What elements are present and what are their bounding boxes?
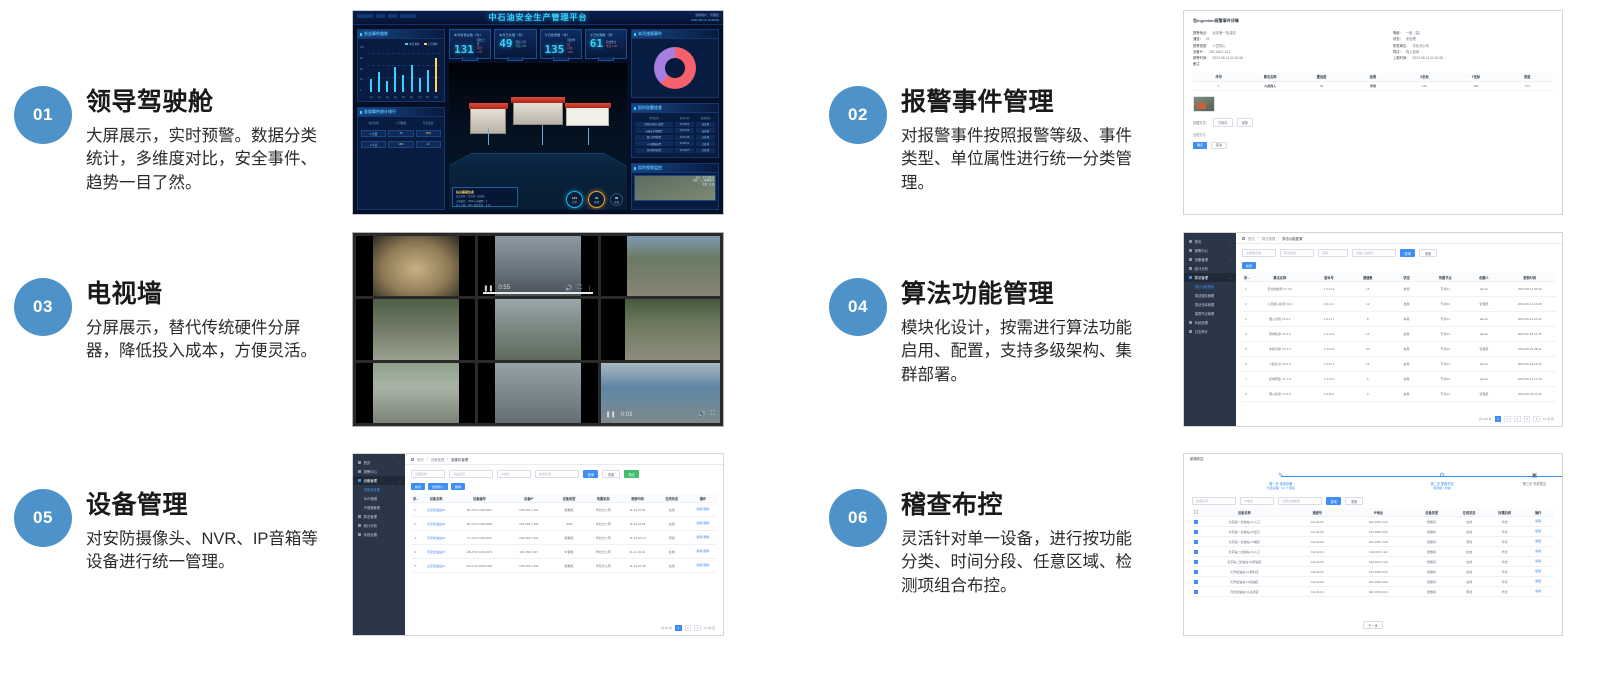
video-tile-3[interactable] [601, 236, 720, 296]
page-size-select[interactable]: 10 条/页 [1543, 417, 1554, 421]
feature-text-02: 报警事件管理 对报警事件按照报警等级、事件类型、单位属性进行统一分类管理。 [901, 86, 1133, 195]
chevron-down-icon: ⌄ [398, 479, 401, 483]
action-bar: 新增 批量导入 删除 [405, 483, 723, 494]
bullet-icon [358, 533, 361, 536]
table-row[interactable]: 4 河北加油站07 HB-JYZ-CAM-0073 192.168.3.117 … [411, 545, 717, 559]
feature-block-04: 04 算法功能管理 模块化设计，按需进行算法功能启用、配置，支持多级架构、集群部… [829, 278, 1137, 387]
panel-title-violation: 本月违规事件 [632, 30, 718, 39]
feature-badge-03: 03 [14, 278, 72, 336]
volume-icon[interactable]: 🔊 [565, 285, 572, 292]
table-row[interactable]: 6 人脸比对 V2.2.3 2.2.3-r1 14 启用 节点01 admin … [1242, 357, 1556, 372]
check-square-icon: ▣ [1532, 473, 1538, 479]
sidebar-item-device[interactable]: 设备管理⌄ [353, 476, 405, 485]
page-button[interactable]: 2 [685, 625, 692, 631]
scene-dials[interactable]: 131 告警 49 处理 98 在线 [566, 191, 623, 208]
sidebar-item-home[interactable]: 首页⌄ [1184, 237, 1236, 246]
legend-item-2: 上月事件 [424, 42, 438, 46]
table-header-row: 序号 算法名称 版本号 通道数 状态 所属节点 创建人 更新时间 [1242, 273, 1556, 282]
table-row[interactable]: 北京第二加油站-02卸油区 CH-02-02 192.168.1.112 摄像机… [1192, 557, 1554, 567]
breadcrumb: 首页/ 算法管理/ 算法功能配置 [1236, 233, 1562, 244]
slide-canvas: 01 领导驾驶舱 大屏展示，实时预警。数据分类统计，多维度对比，安全事件、趋势一… [0, 0, 1622, 673]
feature-text-01: 领导驾驶舱 大屏展示，实时预警。数据分类统计，多维度对比，安全事件、趋势一目了然… [86, 86, 318, 195]
panel-title-realtime-alarm: 实时告警信息 [632, 104, 718, 113]
feature-title-06: 稽查布控 [901, 491, 1137, 519]
feature-block-06: 06 稽查布控 灵活针对单一设备，进行按功能分类、时间分段、任意区域、检测项组合… [829, 489, 1137, 598]
table-row: 离岗睡岗报警 12:44:07 已处理 [635, 148, 715, 153]
scene-3d-station[interactable]: 站点基础信息 站点名称：北京第一加油站 占地面积：3600㎡ 油罐数：6 员工人… [449, 63, 627, 210]
feature-title-05: 设备管理 [86, 491, 322, 519]
dial-handled[interactable]: 49 处理 [588, 191, 605, 208]
feature-block-03: 03 电视墙 分屏展示，替代传统硬件分屏器，降低投入成本，方便灵活。 [14, 278, 318, 364]
page-button[interactable]: 4 [1524, 416, 1531, 422]
camera-feed [373, 299, 459, 359]
feature-number-02: 02 [848, 105, 868, 125]
chevron-down-icon: ⌄ [1270, 251, 1273, 255]
table-header-row: 序号 设备名称 设备编号 设备IP 设备类型 所属机构 更新时间 在线状态 操作 [411, 494, 717, 503]
sidebar-item-home[interactable]: 首页⌄ [353, 458, 405, 467]
confirm-button[interactable]: 确定 [1193, 142, 1207, 149]
tag-verified[interactable]: 已核实 [1213, 118, 1233, 127]
volume-icon[interactable]: 🔊 [698, 411, 705, 418]
table-header-row: 事件名称 发生时间 处理状态 [635, 115, 715, 120]
table-row[interactable]: 北京第二加油站-01入口 CH-02-01 192.168.1.111 摄像机 … [1192, 547, 1554, 557]
filter-online-status-select[interactable]: 在线状态⌄ [535, 470, 579, 478]
camera-feed [373, 363, 459, 423]
table-row: 未戴安全帽报警 13:21:45 未处理 [635, 128, 715, 133]
page-button[interactable]: 2 [1504, 416, 1511, 422]
device-table: 序号 设备名称 设备编号 设备IP 设备类型 所属机构 更新时间 在线状态 操作… [405, 494, 723, 621]
filter-bar: 全部服务器⌄ 算法类型⌄ 名称 请输入关键字 查询 重置 [1236, 244, 1562, 262]
video-tile-7[interactable] [356, 363, 475, 423]
main-area: 首页/ 设备管理/ 摄像机管理 全部机构⌄ 设备名称 IP地址 在线状态⌄ 查询… [405, 454, 723, 635]
camera-feed [373, 236, 459, 296]
dashboard-nav-left[interactable] [357, 14, 416, 18]
feature-desc-06: 灵活针对单一设备，进行按功能分类、时间分段、任意区域、检测项组合布控。 [901, 528, 1137, 598]
feature-number-03: 03 [33, 297, 53, 317]
video-tile-8[interactable] [478, 363, 597, 423]
panel-title-event-rank: 各类事件统计排行 [358, 108, 444, 117]
tag-false-alarm[interactable]: 误报 [1237, 118, 1253, 127]
legend-item-1: 本月事件 [405, 42, 419, 46]
filter-device-name-input[interactable]: 设备名称 [1192, 497, 1236, 505]
step-2-configure[interactable]: ⚙ 第二步 配置布控 检测项 / 时段 [1361, 473, 1522, 490]
feature-number-05: 05 [33, 508, 53, 528]
device-app: 首页⌄ 报警中心 设备管理⌄ 摄像机管理 NVR管理 IP音箱管理 算法管理 统… [353, 454, 723, 635]
field-row: 上报时间：2023-06-12 11:31:48 [1393, 55, 1553, 61]
video-tile-5[interactable] [478, 299, 597, 359]
row-checkbox[interactable] [1192, 560, 1199, 564]
page-button[interactable]: 1 [675, 625, 682, 631]
add-button[interactable]: 新增 [1242, 262, 1256, 269]
cancel-button[interactable]: 取消 [1211, 142, 1227, 149]
panel-event-trend: 安全事件趋势 本月事件 上月事件 120 90 60 30 [357, 29, 445, 102]
feature-text-03: 电视墙 分屏展示，替代传统硬件分屏器，降低投入成本，方便灵活。 [86, 278, 318, 364]
dashboard-title: 中石油安全生产管理平台 [489, 12, 588, 23]
alarm-result-table: 序号 算法名称 置信度 结果 X坐标 Y坐标 宽度 1 人员闯入 93 异常 1… [1193, 73, 1553, 91]
table-row[interactable]: 2 北京加油站02 BJ-JYZ-CAM-0002 192.168.1.102 … [411, 517, 717, 531]
filter-name-input[interactable]: 名称 [1318, 249, 1348, 257]
main-area: 首页/ 算法管理/ 算法功能配置 全部服务器⌄ 算法类型⌄ 名称 请输入关键字 … [1236, 233, 1562, 426]
feature-badge-05: 05 [14, 489, 72, 547]
pagination: 共 128 条 1 2 3 4 5 10 条/页 [1236, 412, 1562, 426]
page-size-select[interactable]: 10 条/页 [704, 626, 715, 630]
feature-block-02: 02 报警事件管理 对报警事件按照报警等级、事件类型、单位属性进行统一分类管理。 [829, 86, 1133, 195]
chevron-down-icon: ⌄ [398, 461, 401, 465]
table-header-row: 序号 算法名称 置信度 结果 X坐标 Y坐标 宽度 [1193, 73, 1553, 82]
action-bar: 新增 [1236, 262, 1562, 273]
next-step-button[interactable]: 下一步 [1363, 621, 1384, 629]
sidebar-item-algo-function-config[interactable]: 算法功能配置 [1184, 282, 1236, 291]
table-row[interactable]: 天津加油站-01便利店 CH-03-01 192.168.2.101 摄像机 在… [1192, 567, 1554, 577]
alarm-detail-card: 包ingestion报警事件详情 报警地点：北京第一加油站 通道：01 报警类型… [1184, 11, 1562, 214]
table-row[interactable]: 河北加油站-01主通道 CH-04-01 192.168.3.101 摄像机 离… [1192, 587, 1554, 597]
reset-button[interactable]: 重置 [1345, 497, 1362, 505]
feature-badge-01: 01 [14, 86, 72, 144]
inspection-app: 新增布控 ✎ 第一步 选择设备 已选设备：01 个通道 ⚙ 第二步 配置布控 检… [1184, 454, 1562, 635]
dial-online[interactable]: 98 在线 [610, 193, 623, 206]
scene-info-title: 站点基础信息 [456, 190, 514, 194]
row-checkbox[interactable] [1192, 520, 1199, 524]
row-checkbox[interactable] [1192, 570, 1199, 574]
dashboard-user: 当前用户：管理员 [691, 13, 719, 18]
sidebar-item-device[interactable]: 设备管理⌄ [1184, 255, 1236, 264]
chart-bars [367, 51, 440, 92]
screenshot-leader-dashboard[interactable]: 中石油安全生产管理平台 当前用户：管理员 2023-06-12 13:28:06… [352, 10, 724, 215]
sidebar-item-statistics[interactable]: 统计分析 [353, 521, 405, 530]
sidebar-item-camera[interactable]: 摄像机管理 [353, 485, 405, 494]
scene-roof [565, 103, 611, 108]
feature-text-04: 算法功能管理 模块化设计，按需进行算法功能启用、配置，支持多级架构、集群部署。 [901, 278, 1137, 387]
feature-text-06: 稽查布控 灵活针对单一设备，进行按功能分类、时间分段、任意区域、检测项组合布控。 [901, 489, 1137, 598]
table-row[interactable]: 5 车牌识别 V3.1.0 3.1.0-r5 20 启用 节点02 管理员 20… [1242, 342, 1556, 357]
chevron-down-icon: ⌄ [1229, 258, 1232, 262]
home-icon [411, 458, 414, 461]
sidebar-item-nvr[interactable]: NVR管理 [353, 494, 405, 503]
chevron-down-icon: ⌄ [439, 472, 442, 476]
panel-title-live-video: 实时视频监控 [632, 164, 718, 173]
feature-desc-02: 对报警事件按照报警等级、事件类型、单位属性进行统一分类管理。 [901, 125, 1133, 195]
feature-number-04: 04 [848, 297, 868, 317]
page-button[interactable]: 3 [694, 625, 701, 631]
home-icon [1242, 237, 1245, 240]
more-icon[interactable]: ⋮ [587, 285, 593, 292]
cctv-caption: 站点：北京加油站 通道：入口摄像机01 状态：在线 [693, 177, 714, 187]
chevron-down-icon: ⌄ [1308, 251, 1311, 255]
table-row[interactable]: 3 天津加油站01 TJ-JYZ-CAM-0011 192.168.2.101 … [411, 531, 717, 545]
feature-badge-04: 04 [829, 278, 887, 336]
bullet-icon [358, 470, 361, 473]
sidebar-item-ip-speaker[interactable]: IP音箱管理 [353, 503, 405, 512]
add-device-button[interactable]: 新增 [411, 483, 425, 490]
sidebar-item-algorithm[interactable]: 算法管理⌄ [1184, 273, 1236, 282]
camera-feed [495, 363, 581, 423]
camera-feed [625, 299, 720, 359]
row-checkbox[interactable] [1192, 590, 1199, 594]
export-button[interactable]: 导出 [624, 470, 639, 478]
sidebar-item-algorithm[interactable]: 算法管理 [353, 512, 405, 521]
feature-desc-03: 分屏展示，替代传统硬件分屏器，降低投入成本，方便灵活。 [86, 317, 318, 364]
sidebar-item-cluster-node[interactable]: 集群节点管理 [1184, 309, 1236, 318]
dashboard-header: 中石油安全生产管理平台 当前用户：管理员 2023-06-12 13:28:06 [353, 11, 723, 25]
feature-badge-02: 02 [829, 86, 887, 144]
row-checkbox[interactable] [1192, 580, 1199, 584]
camera-feed [495, 299, 581, 359]
select-all-checkbox[interactable] [1192, 510, 1199, 514]
table-row: 人员聚集报警 12:58:11 已处理 [635, 141, 715, 146]
bar-chart-event-trend: 本月事件 上月事件 120 90 60 30 0 [358, 39, 444, 101]
table-row: 1 人员闯入 93 异常 146 382 173 [1193, 82, 1553, 91]
screenshot-inspection-deployment[interactable]: 新增布控 ✎ 第一步 选择设备 已选设备：01 个通道 ⚙ 第二步 配置布控 检… [1183, 453, 1563, 636]
filter-server-select[interactable]: 全部服务器⌄ [1242, 249, 1276, 257]
panel-event-rank: 各类事件统计排行 排名名称 上月数量 环比变化 1 告警 46 48% [357, 107, 445, 210]
bullet-icon [1189, 321, 1192, 324]
inspection-table: 设备名称 通道号 IP地址 设备类型 在线状态 所属机构 操作 北京第一加油站-… [1184, 508, 1562, 616]
batch-import-button[interactable]: 批量导入 [428, 483, 448, 490]
sidebar-item-alarm-center[interactable]: 报警中心 [1184, 246, 1236, 255]
table-row[interactable]: 北京第一加油站-02出口 CH-01-02 192.168.1.102 摄像机 … [1192, 527, 1554, 537]
filter-bar: 设备名称 IP地址 全部设备类型⌄ 查询 重置 [1184, 494, 1562, 508]
row-checkbox[interactable] [1192, 530, 1199, 534]
scene-roof [511, 97, 564, 103]
breadcrumb: 首页/ 设备管理/ 摄像机管理 [405, 454, 723, 465]
feature-desc-01: 大屏展示，实时预警。数据分类统计，多维度对比，安全事件、趋势一目了然。 [86, 125, 318, 195]
filter-ip-input[interactable]: IP地址 [497, 470, 531, 478]
dashboard-datetime: 2023-06-12 13:28:06 [691, 18, 719, 23]
page-button[interactable]: 5 [1533, 416, 1540, 422]
kpi-value: 135 [545, 45, 565, 55]
table-row[interactable]: 4 离岗检测 V1.4.2 1.4.2-r2 10 启用 节点03 admin … [1242, 327, 1556, 342]
sidebar: 首页⌄ 报警中心 设备管理⌄ 统计分析 算法管理⌄ 算法功能配置 算法服务管理 … [1184, 233, 1236, 426]
feature-number-01: 01 [33, 105, 53, 125]
alarm-mini-table: 事件名称 发生时间 处理状态 危险区域闯入报警 13:28:02 未处理 未戴安… [632, 113, 718, 157]
feature-number-06: 06 [848, 508, 868, 528]
alarm-fields-right: 等级：一级（高） 状态：未处理 所属单位：华北分公司 算法：闯入检测 上报时间：… [1393, 30, 1553, 68]
bullet-icon [1189, 258, 1192, 261]
panel-title-event-trend: 安全事件趋势 [358, 30, 444, 39]
nav-pill[interactable] [400, 14, 416, 18]
filter-bar: 全部机构⌄ 设备名称 IP地址 在线状态⌄ 查询 重置 导出 [405, 465, 723, 483]
filter-device-name-input[interactable]: 设备名称 [449, 470, 493, 478]
feature-desc-05: 对安防摄像头、NVR、IP音箱等设备进行统一管理。 [86, 528, 322, 575]
scene-lamp [488, 128, 489, 146]
table-row[interactable]: 5 山东加油站12 SD-JYZ-CAM-0120 192.168.4.120 … [411, 559, 717, 573]
kpi-card: 今日告警数（件） 135 同比昨日环比 +4% [540, 29, 582, 59]
table-row[interactable]: 3 烟火识别 V1.0.1 1.0.1-r7 8 停用 节点01 admin 2… [1242, 312, 1556, 327]
alarm-detail-actions: 确定 取消 [1193, 142, 1553, 149]
bullet-icon [358, 461, 361, 464]
feature-title-01: 领导驾驶舱 [86, 88, 318, 116]
search-button[interactable]: 查询 [1400, 249, 1415, 257]
dashboard-right-column: 本月违规事件 实时告警信息 事件名称 发生时间 处理状态 [631, 29, 719, 210]
dashboard-user-info: 当前用户：管理员 2023-06-12 13:28:06 [691, 13, 719, 22]
alarm-snapshot-thumbnail[interactable] [1193, 96, 1215, 112]
remark-label: 处理意见 [1193, 132, 1553, 137]
pause-icon[interactable]: ❚❚ [606, 411, 616, 418]
chevron-down-icon: ⌄ [573, 472, 576, 476]
chart-y-axis: 120 90 60 30 0 [360, 46, 366, 92]
kpi-card: 今日处理数（件） 61 同比昨日环比 +5% [585, 29, 627, 59]
filter-keyword-input[interactable]: 请输入关键字 [1352, 249, 1396, 257]
rank-header-row: 排名名称 上月数量 环比变化 [358, 117, 444, 128]
scene-lamp [588, 128, 589, 146]
table-row[interactable]: 北京第一加油站-03罐区 CH-01-03 192.168.1.103 摄像机 … [1192, 537, 1554, 547]
video-tile-2[interactable]: ❚❚ 0:55 🔊 ⛶ ⋮ [478, 236, 597, 296]
table-row[interactable]: 北京第一加油站-01入口 CH-01-01 192.168.1.101 摄像机 … [1192, 517, 1554, 527]
chevron-down-icon: ⌄ [1229, 240, 1232, 244]
filter-ip-input[interactable]: IP地址 [1240, 497, 1274, 505]
table-row[interactable]: 7 区域聚集 V1.1.0 1.1.0-r4 6 停用 节点03 admin 2… [1242, 372, 1556, 387]
bullet-icon [1189, 330, 1192, 333]
feature-desc-04: 模块化设计，按需进行算法功能启用、配置，支持多级架构、集群部署。 [901, 317, 1137, 387]
table-row: 危险区域闯入报警 13:28:02 未处理 [635, 122, 715, 127]
dashboard-body: 安全事件趋势 本月事件 上月事件 120 90 60 30 [353, 25, 723, 214]
kpi-row: 本月告警总数（件） 131 同比上月环比 +7% 本月已处理（件） 49 同比上… [449, 29, 627, 59]
table-header-row: 设备名称 通道号 IP地址 设备类型 在线状态 所属机构 操作 [1192, 508, 1554, 517]
filter-algo-type-select[interactable]: 算法类型⌄ [1280, 249, 1314, 257]
donut-ring [654, 47, 696, 89]
table-row[interactable]: 1 安全帽检测 V1.2.0 1.2.0-r3 16 启用 节点01 admin… [1242, 282, 1556, 297]
page-title: 新增布控 [1184, 454, 1562, 463]
step-3-submit[interactable]: ▣ 第三步 完成提交 [1523, 473, 1546, 486]
scene-roof [469, 103, 508, 109]
fullscreen-icon[interactable]: ⛶ [577, 285, 581, 292]
row-checkbox[interactable] [1192, 550, 1199, 554]
feature-title-02: 报警事件管理 [901, 88, 1133, 116]
video-tile-6[interactable] [601, 299, 720, 359]
reset-button[interactable]: 重置 [1419, 249, 1436, 257]
feature-badge-06: 06 [829, 489, 887, 547]
inspection-title: 新增布控 [1190, 456, 1204, 461]
video-time: 0:03 [621, 412, 633, 418]
nav-pill[interactable] [376, 14, 385, 18]
chart-x-axis: 1月 2月 3月 4月 5月 6月 7月 8月 9月 [367, 95, 440, 99]
reset-button[interactable]: 重置 [602, 470, 619, 478]
dial-alarm[interactable]: 131 告警 [566, 191, 583, 208]
kpi-card: 本月已处理（件） 49 同比上月环比 -3% [494, 29, 536, 59]
sidebar-item-settings[interactable]: 系统设置 [1184, 318, 1236, 327]
cctv-thumbnail[interactable]: 站点：北京加油站 通道：入口摄像机01 状态：在线 [634, 175, 716, 201]
nav-pill[interactable] [357, 14, 373, 18]
dashboard-center-column: 本月告警总数（件） 131 同比上月环比 +7% 本月已处理（件） 49 同比上… [449, 29, 627, 210]
video-wall-grid: ❚❚ 0:55 🔊 ⛶ ⋮ [353, 233, 723, 426]
screenshot-video-wall[interactable]: ❚❚ 0:55 🔊 ⛶ ⋮ [352, 232, 724, 427]
chevron-down-icon: ⌄ [1316, 499, 1319, 503]
panel-live-video: 实时视频监控 站点：北京加油站 通道：入口摄像机01 状态：在线 [631, 163, 719, 210]
step-1-select-device[interactable]: ✎ 第一步 选择设备 已选设备：01 个通道 [1200, 473, 1361, 490]
sidebar-item-algo-service[interactable]: 算法服务管理 [1184, 291, 1236, 300]
screenshot-algorithm-management[interactable]: 首页⌄ 报警中心 设备管理⌄ 统计分析 算法管理⌄ 算法功能配置 算法服务管理 … [1183, 232, 1563, 427]
screenshot-alarm-detail[interactable]: 包ingestion报警事件详情 报警地点：北京第一加油站 通道：01 报警类型… [1183, 10, 1563, 215]
bullet-icon [358, 479, 361, 482]
scene-info-panel: 站点基础信息 站点名称：北京第一加油站 占地面积：3600㎡ 油罐数：6 员工人… [452, 187, 518, 207]
chart-legend: 本月事件 上月事件 [405, 42, 438, 46]
table-row[interactable]: 2 人员闯入检测 V2.0 2.0.4-r1 12 启用 节点02 管理员 20… [1242, 297, 1556, 312]
bullet-icon [1189, 240, 1192, 243]
search-button[interactable]: 查询 [1326, 497, 1341, 505]
handle-method-row: 处理方式： 已核实 误报 [1193, 118, 1553, 127]
sidebar-item-statistics[interactable]: 统计分析 [1184, 264, 1236, 273]
pause-icon[interactable]: ❚❚ [483, 285, 493, 292]
delete-button[interactable]: 删除 [451, 483, 465, 490]
rank-row: 2 人员 18% 22 [358, 139, 444, 150]
scene-building [513, 101, 563, 125]
camera-feed [627, 236, 720, 296]
main-area: 新增布控 ✎ 第一步 选择设备 已选设备：01 个通道 ⚙ 第二步 配置布控 检… [1184, 454, 1562, 635]
row-checkbox[interactable] [1192, 540, 1199, 544]
bullet-icon [1189, 249, 1192, 252]
kpi-value: 131 [454, 45, 474, 55]
algorithm-app: 首页⌄ 报警中心 设备管理⌄ 统计分析 算法管理⌄ 算法功能配置 算法服务管理 … [1184, 233, 1562, 426]
video-time: 0:55 [498, 285, 510, 291]
video-tile-4[interactable] [356, 299, 475, 359]
table-row[interactable]: 天津加油站-02加油区 CH-03-02 192.168.2.102 摄像机 在… [1192, 577, 1554, 587]
alarm-fields-left: 报警地点：北京第一加油站 通道：01 报警类型：人员闯入 设备IP：192.16… [1193, 30, 1353, 68]
algorithm-table: 序号 算法名称 版本号 通道数 状态 所属节点 创建人 更新时间 1 安全帽检测… [1236, 273, 1562, 412]
handle-method-label: 处理方式： [1193, 120, 1209, 125]
video-tile-9[interactable]: ❚❚ 0:03 🔊 ⛶ [601, 363, 720, 423]
filter-org-select[interactable]: 全部机构⌄ [411, 470, 445, 478]
panel-realtime-alarm: 实时告警信息 事件名称 发生时间 处理状态 危险区域闯入报警 13:28:02 … [631, 103, 719, 158]
table-row: 烟火检测报警 13:10:33 已处理 [635, 135, 715, 140]
bullet-icon [358, 515, 361, 518]
table-row[interactable]: 1 北京加油站01 BJ-JYZ-CAM-0001 192.168.1.101 … [411, 503, 717, 517]
panel-violation-donut: 本月违规事件 [631, 29, 719, 98]
sidebar-item-alarm-center[interactable]: 报警中心 [353, 467, 405, 476]
table-row[interactable]: 8 明火检测 V1.0.8 1.0.8-r2 9 启用 节点02 管理员 202… [1242, 387, 1556, 402]
footer-actions: 下一步 [1184, 616, 1562, 635]
feature-block-05: 05 设备管理 对安防摄像头、NVR、IP音箱等设备进行统一管理。 [14, 489, 322, 575]
total-count: 共 128 条 [1479, 417, 1492, 421]
search-button[interactable]: 查询 [583, 470, 598, 478]
rank-row: 1 告警 46 48% [358, 128, 444, 139]
bullet-icon [358, 524, 361, 527]
field-row: 备注 [1193, 61, 1353, 67]
sidebar-item-audit-log[interactable]: 日志审计 [1184, 327, 1236, 336]
screenshot-device-management[interactable]: 首页⌄ 报警中心 设备管理⌄ 摄像机管理 NVR管理 IP音箱管理 算法管理 统… [352, 453, 724, 636]
sidebar-item-algo-repo[interactable]: 算法仓库管理 [1184, 300, 1236, 309]
alarm-detail-title: 包ingestion报警事件详情 [1193, 18, 1553, 24]
feature-text-05: 设备管理 对安防摄像头、NVR、IP音箱等设备进行统一管理。 [86, 489, 322, 575]
sidebar: 首页⌄ 报警中心 设备管理⌄ 摄像机管理 NVR管理 IP音箱管理 算法管理 统… [353, 454, 405, 635]
kpi-value: 49 [499, 39, 512, 49]
video-controls[interactable]: ❚❚ 0:55 🔊 ⛶ ⋮ [478, 280, 597, 296]
donut-chart [632, 39, 718, 97]
sidebar-item-settings[interactable]: 系统设置 [353, 530, 405, 539]
video-progress-bar[interactable] [483, 292, 592, 294]
dashboard-app: 中石油安全生产管理平台 当前用户：管理员 2023-06-12 13:28:06… [353, 11, 723, 214]
total-count: 共 86 条 [661, 626, 672, 630]
nav-pill[interactable] [388, 14, 397, 18]
bullet-icon [1189, 276, 1192, 279]
feature-title-03: 电视墙 [86, 280, 318, 308]
kpi-card: 本月告警总数（件） 131 同比上月环比 +7% [449, 29, 491, 59]
bullet-icon [1189, 267, 1192, 270]
page-button[interactable]: 1 [1495, 416, 1502, 422]
alarm-detail-fields: 报警地点：北京第一加油站 通道：01 报警类型：人员闯入 设备IP：192.16… [1193, 30, 1553, 68]
chevron-down-icon: ⌄ [1229, 276, 1232, 280]
page-button[interactable]: 3 [1514, 416, 1521, 422]
feature-title-04: 算法功能管理 [901, 280, 1137, 308]
video-controls[interactable]: ❚❚ 0:03 🔊 ⛶ [601, 407, 720, 423]
dashboard-left-column: 安全事件趋势 本月事件 上月事件 120 90 60 30 [357, 29, 445, 210]
kpi-value: 61 [590, 39, 603, 49]
video-tile-1[interactable] [356, 236, 475, 296]
step-indicator: ✎ 第一步 选择设备 已选设备：01 个通道 ⚙ 第二步 配置布控 检测项 / … [1184, 463, 1562, 494]
filter-device-type-select[interactable]: 全部设备类型⌄ [1278, 497, 1322, 505]
fullscreen-icon[interactable]: ⛶ [711, 411, 715, 418]
pagination: 共 86 条 1 2 3 10 条/页 [405, 621, 723, 635]
feature-block-01: 01 领导驾驶舱 大屏展示，实时预警。数据分类统计，多维度对比，安全事件、趋势一… [14, 86, 318, 195]
